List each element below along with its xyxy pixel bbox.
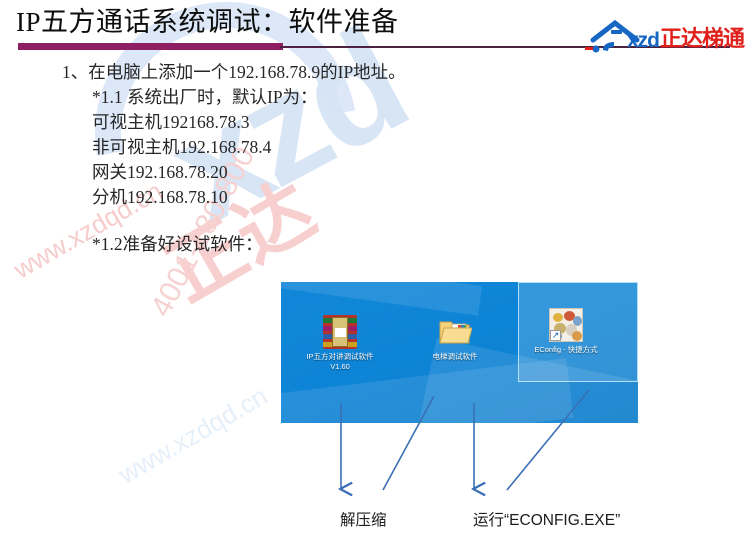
body-copy: 1、在电脑上添加一个192.168.78.9的IP地址。 *1.1 系统出厂时，…	[0, 60, 560, 257]
desktop-icon-rar-archive[interactable]: IP五方对讲调试软件V1.60	[303, 315, 377, 371]
desktop-icon-label: IP五方对讲调试软件V1.60	[303, 352, 377, 371]
wallpaper-streak	[281, 282, 482, 316]
shortcut-arrow-badge: ↗	[550, 330, 561, 341]
desktop-icon-econfig-shortcut[interactable]: ↗ EConfig - 快捷方式	[529, 308, 603, 355]
house-roof-icon	[585, 14, 651, 54]
econfig-shortcut-icon: ↗	[549, 308, 583, 342]
winrar-archive-icon	[323, 315, 357, 349]
copy-line-7: *1.2准备好设试软件：	[92, 232, 560, 257]
copy-line-4: 非可视主机192.168.78.4	[92, 135, 560, 160]
copy-line-1: 1、在电脑上添加一个192.168.78.9的IP地址。	[62, 60, 560, 85]
callout-label-extract: 解压缩	[340, 508, 387, 530]
copy-line-3: 可视主机192168.78.3	[92, 110, 560, 135]
callout-label-run: 运行“ECONFIG.EXE”	[473, 508, 620, 530]
desktop-icon-folder[interactable]: 电梯调试软件	[418, 315, 492, 362]
page-title: IP五方通话系统调试：软件准备	[16, 5, 399, 39]
brand-logo: xzd 正达梯通	[585, 12, 744, 54]
desktop-icon-label: EConfig - 快捷方式	[529, 345, 603, 355]
title-rule-thick-segment	[18, 43, 283, 50]
copy-line-6: 分机192.168.78.10	[92, 185, 560, 210]
folder-icon	[438, 315, 472, 349]
copy-line-5: 网关192.168.78.20	[92, 160, 560, 185]
copy-line-2: *1.1 系统出厂时，默认IP为：	[92, 85, 560, 110]
desktop-icon-label: 电梯调试软件	[418, 352, 492, 362]
desktop-screenshot-image: IP五方对讲调试软件V1.60 电梯调试软件 ↗ EConfig -	[281, 282, 638, 423]
brand-name-chinese: 正达梯通	[660, 21, 744, 53]
watermark-url-3: www.xzdqd.cn	[113, 381, 272, 491]
